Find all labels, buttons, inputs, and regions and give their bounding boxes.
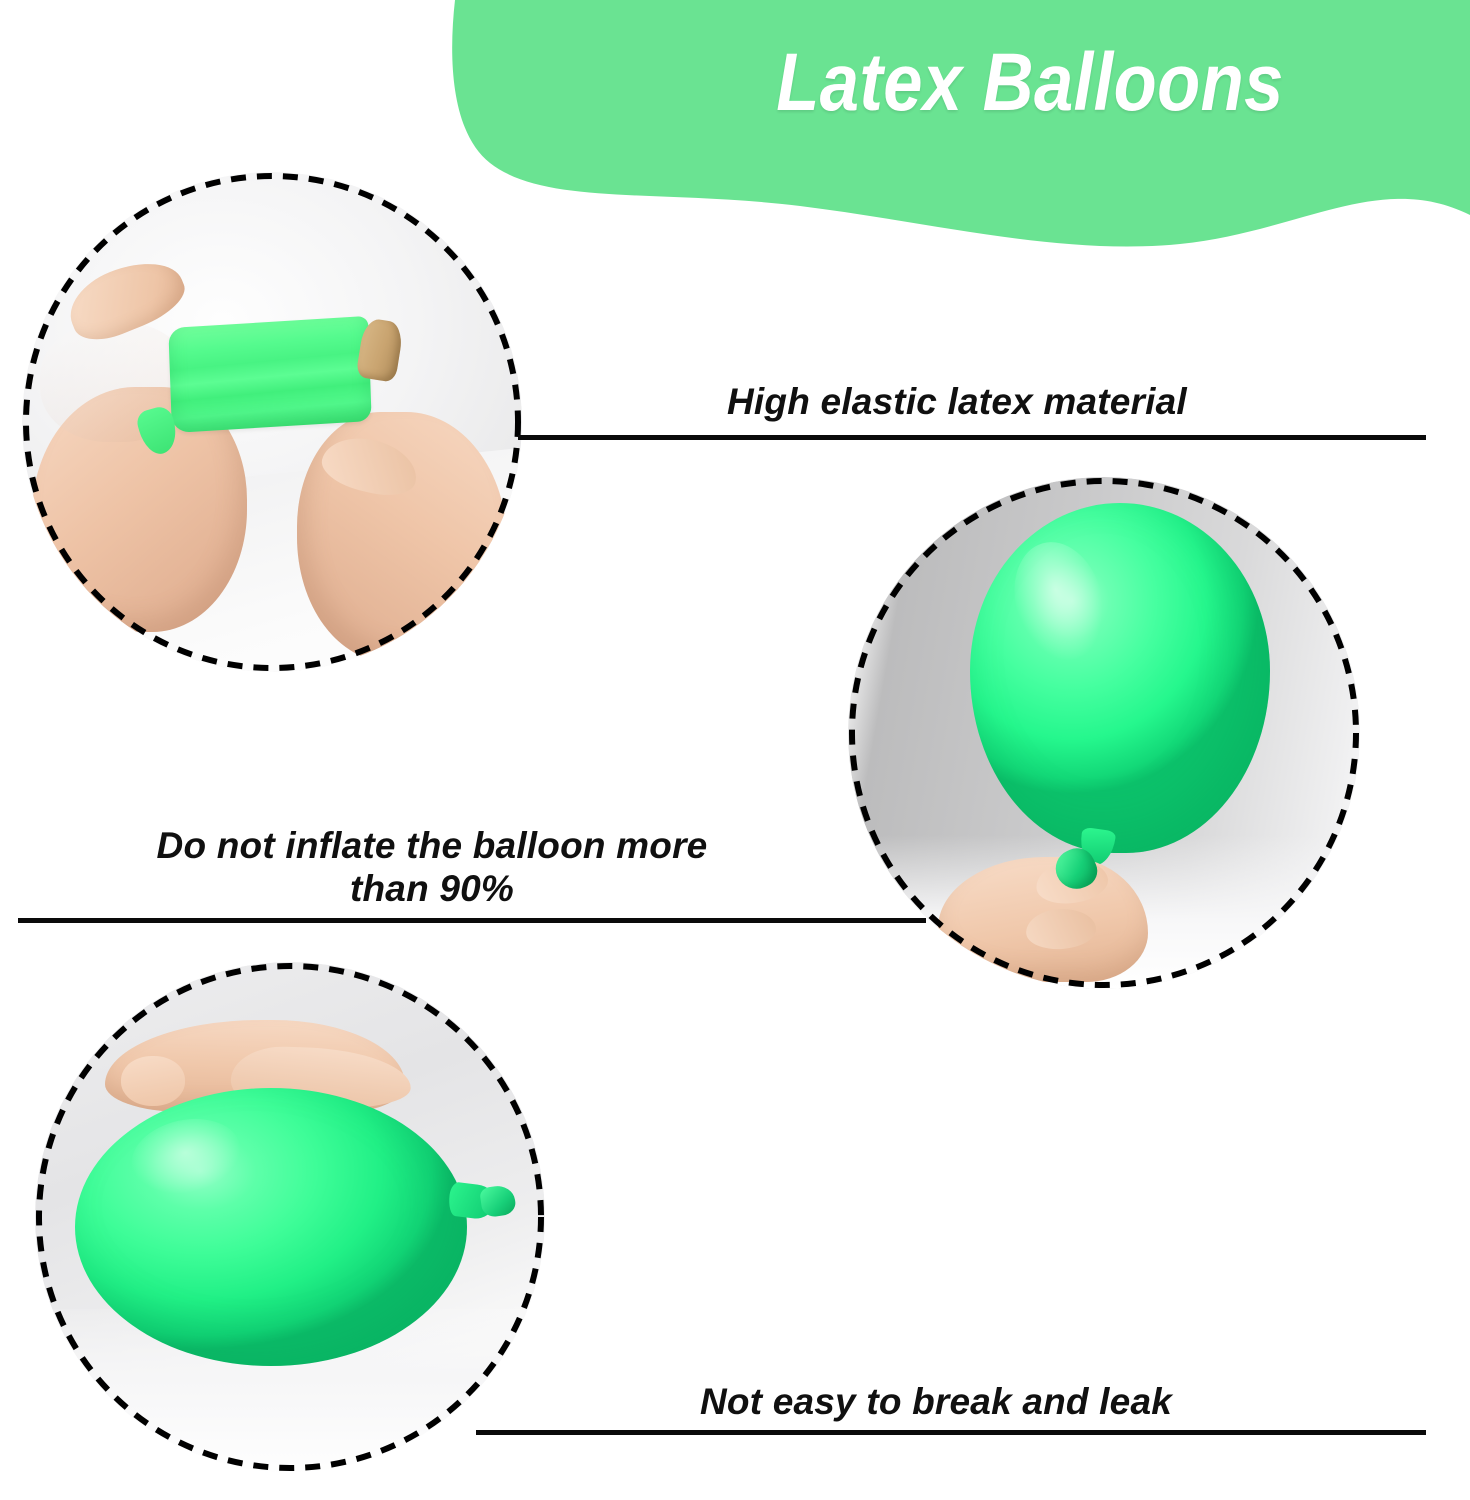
squashed-balloon	[75, 1088, 467, 1366]
connector-rule-3	[476, 1430, 1426, 1435]
caption-line-1: Do not inflate the balloon more	[157, 825, 708, 866]
photo-squashed-balloon-image	[35, 962, 545, 1472]
page-title: Latex Balloons	[677, 36, 1382, 130]
photo-inflated-balloon-image	[848, 477, 1360, 989]
feature-caption-inflate-limit: Do not inflate the balloon more than 90%	[112, 825, 752, 910]
caption-line-2: than 90%	[350, 868, 514, 909]
connector-rule-2	[18, 918, 926, 923]
connector-rule-1	[518, 435, 1426, 440]
feature-caption-no-break: Not easy to break and leak	[700, 1381, 1172, 1424]
photo-elastic-latex	[22, 172, 522, 672]
hand-knuckle	[121, 1056, 185, 1106]
photo-squashed-balloon	[35, 962, 545, 1472]
photo-elastic-latex-image	[22, 172, 522, 672]
product-infographic: Latex Balloons	[0, 0, 1470, 1500]
feature-caption-elastic: High elastic latex material	[727, 381, 1187, 424]
stretched-latex-strip	[168, 316, 371, 433]
inflated-balloon	[970, 503, 1270, 853]
photo-inflated-balloon	[848, 477, 1360, 989]
